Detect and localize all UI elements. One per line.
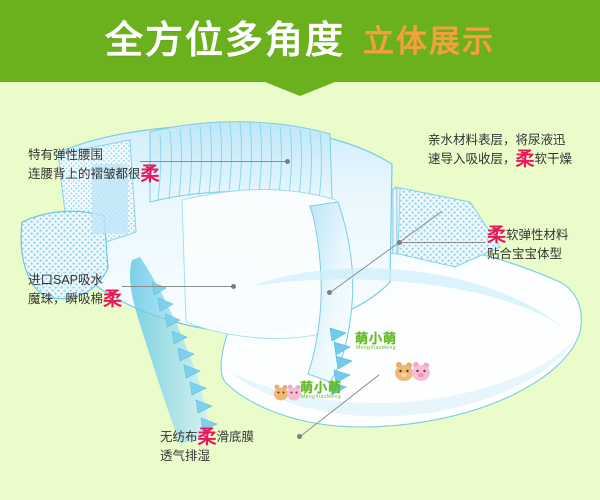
annotation-elastic-waist-line2: 连腰背上的褶皱都很柔 bbox=[28, 165, 160, 184]
annotation-nonwoven-line2: 透气排湿 bbox=[160, 447, 254, 466]
annotation-elastic-material-line1: 柔软弹性材料 bbox=[487, 226, 569, 245]
brand-name-pinyin-2: MengXiaoMeng bbox=[300, 394, 342, 400]
annotation-hydrophilic: 亲水材料表层，将尿液迅 速导入吸收层，柔软干燥 bbox=[428, 131, 572, 169]
highlight-soft: 柔 bbox=[103, 289, 122, 310]
pig-icon-2 bbox=[287, 385, 301, 401]
annotation-hydrophilic-line2: 速导入吸收层，柔软干燥 bbox=[428, 150, 572, 169]
leader-line-sap bbox=[122, 286, 234, 287]
leader-dot-hydrophilic bbox=[327, 290, 332, 295]
brand-mascots-bottom bbox=[271, 383, 301, 403]
annotation-text: 魔珠，瞬吸棉 bbox=[28, 292, 103, 306]
annotation-text: 滑底膜 bbox=[217, 430, 255, 444]
brand-logo-bottom: 萌小萌 MengXiaoMeng bbox=[300, 381, 342, 400]
highlight-soft: 柔 bbox=[487, 225, 506, 246]
annotation-elastic-material-line2: 贴合宝宝体型 bbox=[487, 245, 569, 264]
annotation-nonwoven: 无纺布柔滑底膜 透气排湿 bbox=[160, 428, 254, 466]
highlight-soft: 柔 bbox=[141, 164, 160, 185]
bear-icon bbox=[395, 362, 413, 381]
pig-icon bbox=[412, 362, 430, 381]
page-root: 全方位多角度 立体展示 bbox=[0, 0, 600, 500]
leader-dot-elastic-material bbox=[397, 240, 402, 245]
leader-dot-sap bbox=[231, 284, 236, 289]
brand-name-cn-2: 萌小萌 bbox=[300, 381, 342, 394]
page-subtitle: 立体展示 bbox=[363, 26, 495, 57]
brand-name-pinyin: MengXiaoMeng bbox=[355, 345, 397, 351]
annotation-text: 连腰背上的褶皱都很 bbox=[28, 167, 141, 181]
annotation-sap-line1: 进口SAP吸水 bbox=[28, 271, 122, 290]
leader-dot-nonwoven bbox=[297, 434, 302, 439]
bear-icon-2 bbox=[274, 385, 288, 401]
leader-dot-elastic-waist bbox=[285, 159, 290, 164]
annotation-sap: 进口SAP吸水 魔珠，瞬吸棉柔 bbox=[28, 271, 122, 309]
brand-mascots-top bbox=[389, 360, 433, 382]
highlight-soft: 柔 bbox=[516, 149, 535, 170]
annotation-hydrophilic-line1: 亲水材料表层，将尿液迅 bbox=[428, 131, 572, 150]
annotation-elastic-waist: 特有弹性腰围 连腰背上的褶皱都很柔 bbox=[28, 146, 160, 184]
annotation-text: 速导入吸收层， bbox=[428, 152, 516, 166]
annotation-text: 软弹性材料 bbox=[506, 228, 569, 242]
annotation-text: 软干燥 bbox=[535, 152, 573, 166]
leader-line-elastic-material bbox=[400, 242, 485, 243]
header-content: 全方位多角度 立体展示 bbox=[0, 0, 600, 82]
leader-line-elastic-waist bbox=[140, 161, 288, 162]
annotation-elastic-material: 柔软弹性材料 贴合宝宝体型 bbox=[487, 226, 569, 264]
page-title: 全方位多角度 bbox=[105, 22, 345, 60]
brand-name-cn: 萌小萌 bbox=[355, 332, 397, 345]
annotation-sap-line2: 魔珠，瞬吸棉柔 bbox=[28, 290, 122, 309]
highlight-soft: 柔 bbox=[198, 427, 217, 448]
annotation-text: 无纺布 bbox=[160, 430, 198, 444]
brand-logo-top: 萌小萌 MengXiaoMeng bbox=[355, 332, 397, 351]
annotation-elastic-waist-line1: 特有弹性腰围 bbox=[28, 146, 160, 165]
annotation-nonwoven-line1: 无纺布柔滑底膜 bbox=[160, 428, 254, 447]
